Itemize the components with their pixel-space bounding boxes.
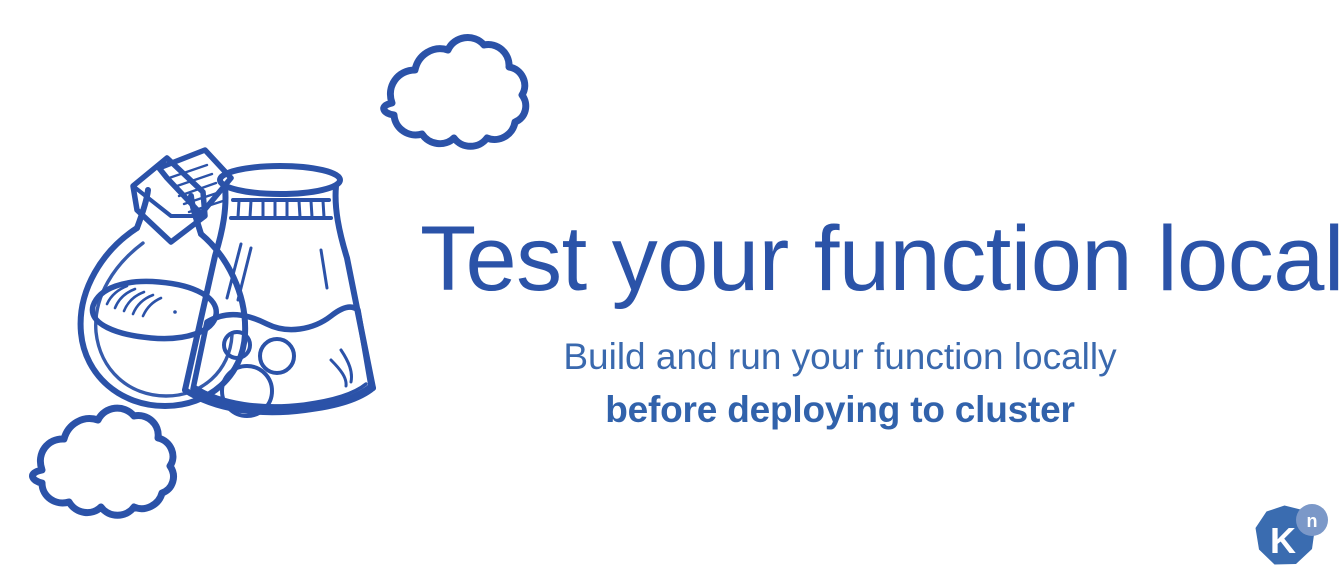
liquid-bubbles: [222, 332, 294, 416]
bubble-large: [222, 366, 272, 416]
erlenmeyer-liquid: [193, 307, 371, 410]
flasks-illustration: [55, 138, 395, 423]
knative-logo: K n: [1252, 502, 1334, 574]
bubble-medium: [260, 339, 294, 373]
neck-band-ticks: [238, 201, 324, 217]
subtitle-line-1: Build and run your function locally: [420, 331, 1260, 384]
subtitle-block: Build and run your function locally befo…: [420, 331, 1260, 436]
bubble-small: [224, 332, 250, 358]
round-flask-liquid: [92, 281, 216, 338]
erlenmeyer-flask: [185, 166, 373, 412]
knative-n-glyph: n: [1307, 511, 1318, 531]
slide-canvas: Test your function locally Build and run…: [0, 0, 1341, 585]
round-bottom-flask: [81, 190, 246, 406]
flask-cork: [133, 150, 231, 242]
page-title: Test your function locally: [420, 210, 1260, 309]
text-block: Test your function locally Build and run…: [420, 210, 1260, 436]
cloud-top-right-icon: [384, 38, 526, 147]
cloud-bottom-left-icon: [33, 408, 174, 515]
subtitle-line-2: before deploying to cluster: [420, 384, 1260, 437]
knative-k-glyph: K: [1270, 520, 1296, 561]
